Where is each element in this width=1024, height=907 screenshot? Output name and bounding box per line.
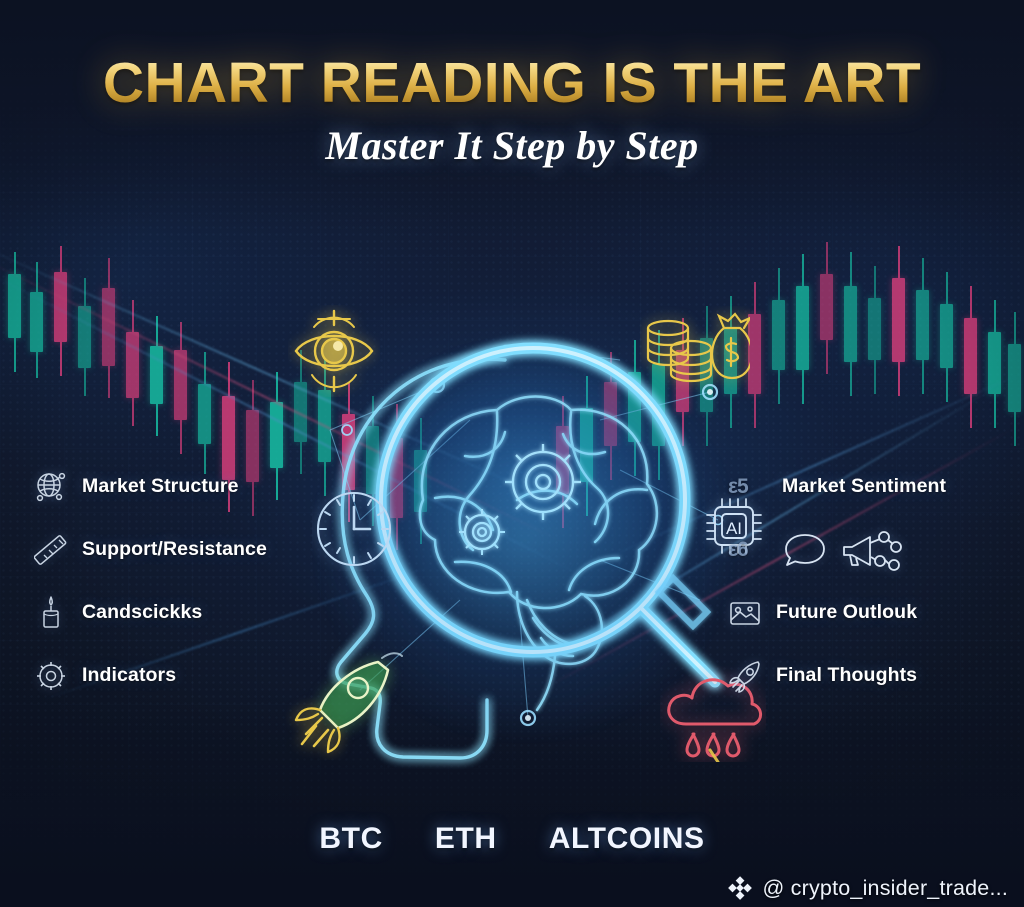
list-item-label: Candscickks [82,601,202,624]
watermark-handle: @ crypto_insider_trade... [762,876,1008,901]
page-title: CHART READING IS THE ART [0,54,1024,114]
right-topic-list: ε5 Market Sentiment ε6 [728,455,998,707]
ruler-icon [34,533,68,567]
list-item-label: Market Sentiment [782,475,946,498]
list-item-market-structure[interactable]: Market Structure [34,455,334,518]
list-item-support-resistance[interactable]: Support/Resistance [34,518,334,581]
megaphone-network-icon [840,527,902,573]
watermark: @ crypto_insider_trade... [727,875,1008,901]
binance-diamond-icon [727,875,753,901]
ticker-row: BTC ETH ALTCOINS [0,822,1024,856]
list-item-indicators[interactable]: Indicators [34,644,334,707]
list-item-label: Support/Resistance [82,538,267,561]
list-item-label: Final Thoughts [776,664,917,687]
list-item-social-buzz[interactable]: ε6 [728,518,998,581]
image-photo-icon [728,596,762,630]
gear-icon [34,659,68,693]
list-item-candlesticks[interactable]: Candscickks [34,581,334,644]
rocket-outline-icon [728,659,762,693]
list-item-market-sentiment[interactable]: ε5 Market Sentiment [728,455,998,518]
list-item-label: Indicators [82,664,176,687]
list-item-number: ε6 [728,538,768,562]
speech-bubble-icon [782,531,828,569]
list-item-future-outlook[interactable]: Future Outlouk [728,581,998,644]
title-block: CHART READING IS THE ART Master It Step … [0,54,1024,169]
list-item-final-thoughts[interactable]: Final Thoughts [728,644,998,707]
list-item-label: Future Outlouk [776,601,917,624]
candle-icon [34,596,68,630]
list-item-number: ε5 [728,475,768,499]
ticker-btc: BTC [319,822,382,856]
money-coins-bag-icon [640,306,750,397]
left-topic-list: Market Structure Support/Resistance [34,455,334,707]
globe-network-icon [34,470,68,504]
eye-crosshair-icon [288,305,380,402]
list-item-label: Market Structure [82,475,239,498]
ticker-altcoins: ALTCOINS [549,822,705,856]
page-subtitle: Master It Step by Step [0,122,1024,169]
ticker-eth: ETH [435,822,497,856]
